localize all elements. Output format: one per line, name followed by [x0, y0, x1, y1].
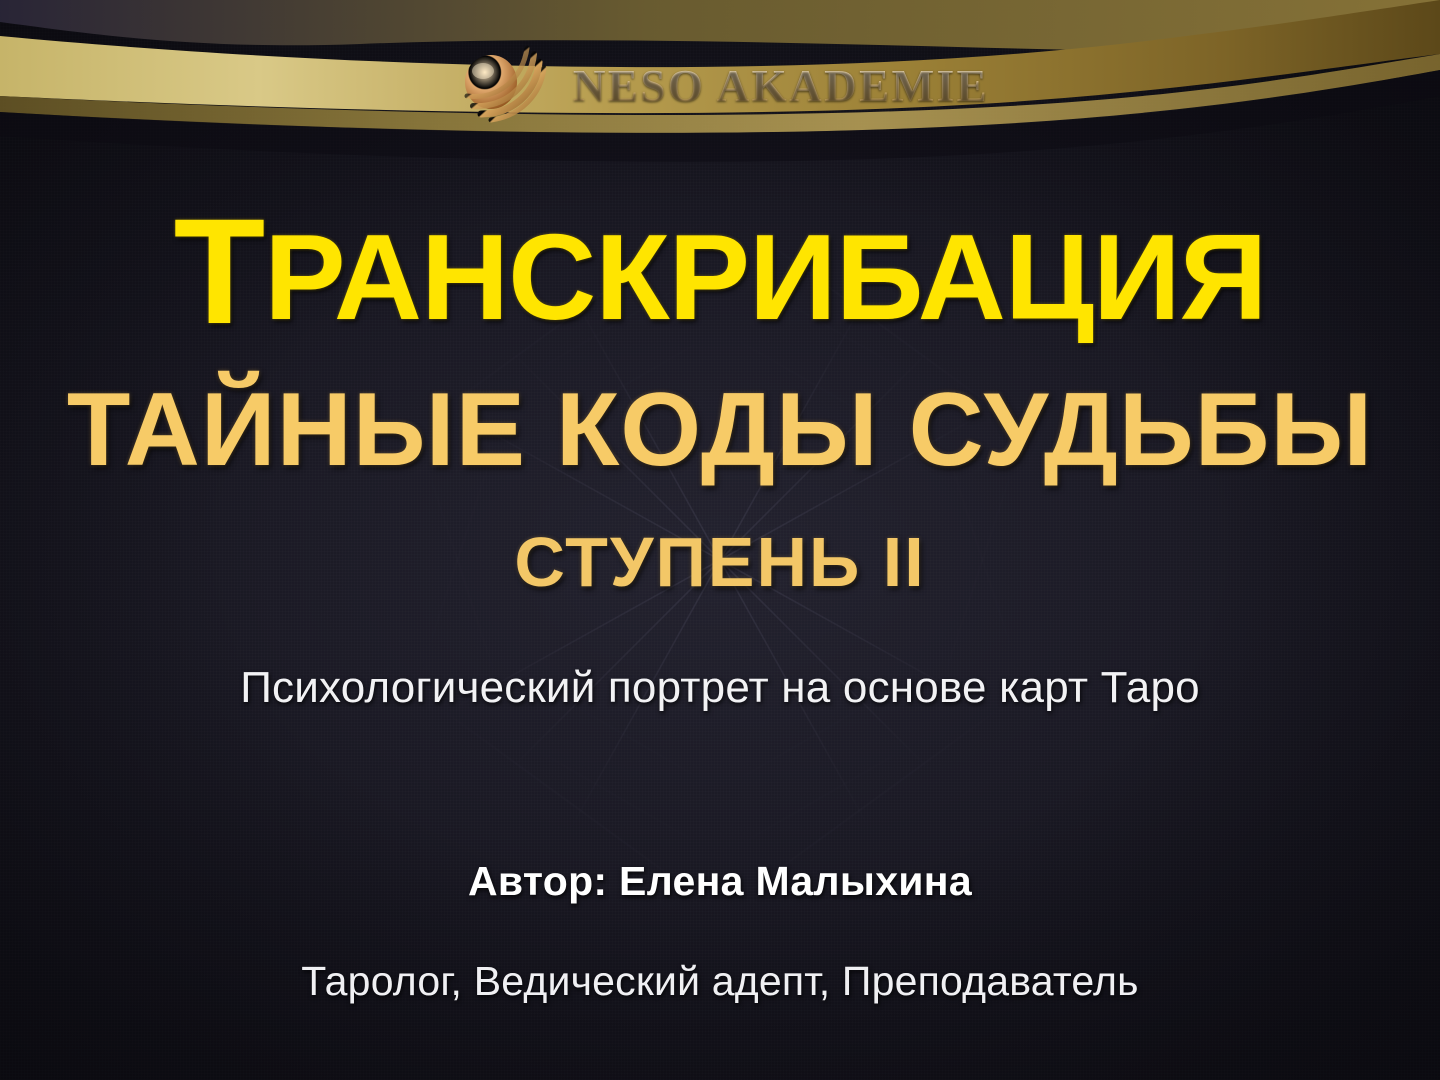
- gold-subtitle: ТАЙНЫЕ КОДЫ СУДЬБЫ: [0, 378, 1440, 482]
- slide-content: ТРАНСКРИБАЦИЯ ТАЙНЫЕ КОДЫ СУДЬБЫ СТУПЕНЬ…: [0, 0, 1440, 1080]
- course-description: Психологический портрет на основе карт Т…: [0, 666, 1440, 710]
- title-drop-cap: Т: [174, 187, 265, 355]
- page-title: ТРАНСКРИБАЦИЯ: [0, 196, 1440, 346]
- title-remainder: РАНСКРИБАЦИЯ: [264, 209, 1266, 345]
- author-role: Таролог, Ведический адепт, Преподаватель: [0, 961, 1440, 1002]
- level-label: СТУПЕНЬ II: [0, 527, 1440, 597]
- title-slide: NESO AKADEMIE ТРАНСКРИБАЦИЯ ТАЙНЫЕ КОДЫ …: [0, 0, 1440, 1080]
- author-name: Автор: Елена Малыхина: [0, 861, 1440, 902]
